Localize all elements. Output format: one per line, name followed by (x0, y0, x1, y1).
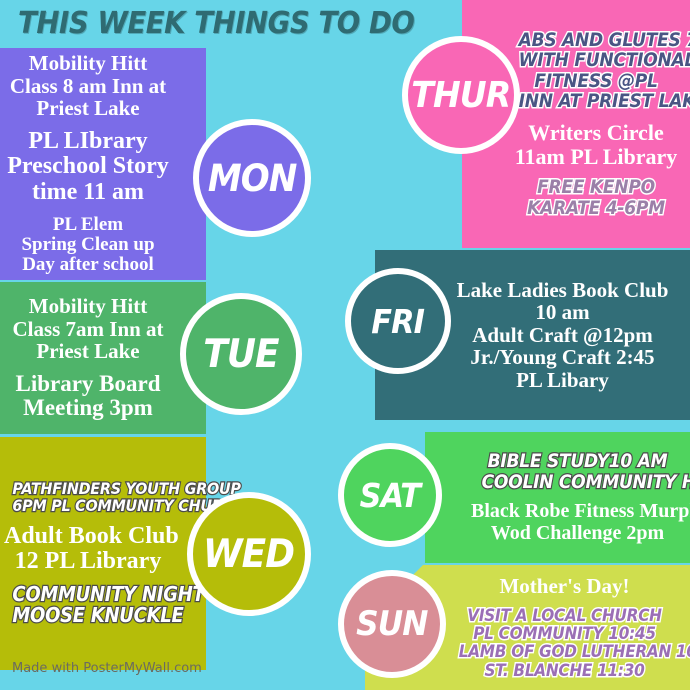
tuesday-event-group-1: Mobility Hitt Class 7am Inn at Priest La… (4, 295, 172, 362)
event-line: Mobility Hitt (4, 295, 172, 317)
event-line: 10 am (445, 301, 680, 323)
day-badge-label: SAT (360, 476, 420, 515)
event-line: 12 PL Library (4, 549, 172, 575)
page-title: This Week Things To Do (18, 6, 404, 41)
event-line: Coolin Community Hall (482, 472, 674, 493)
event-line: Writers Circle (510, 121, 682, 145)
day-block-monday: Mobility Hitt Class 8 am Inn at Priest L… (0, 48, 206, 280)
event-line: with Functional (519, 50, 674, 71)
event-line: PL Community 10:45 (459, 625, 671, 643)
friday-event-group-1: Lake Ladies Book Club 10 am Adult Craft … (445, 279, 680, 391)
event-line: Lake Ladies Book Club (445, 279, 680, 301)
day-badge-sunday: SUN (338, 570, 446, 678)
event-line: Lamb of God Lutheran 10:30 (459, 643, 671, 661)
event-line: Class 7am Inn at (4, 318, 172, 340)
day-badge-label: WED (203, 532, 294, 577)
event-line: Moose Knuckle (12, 605, 163, 627)
day-badge-wednesday: WED (187, 492, 311, 616)
day-badge-label: THUR (411, 75, 510, 116)
event-line: Abs and Glutes 7am (519, 30, 674, 51)
monday-event-group-3: PL Elem Spring Clean up Day after school (4, 215, 172, 276)
day-block-wednesday: Pathfinders Youth Group 6pm PL Community… (0, 437, 206, 670)
event-line: Preschool Story (4, 154, 172, 180)
event-line: 6pm PL Community Church (12, 497, 163, 514)
wednesday-event-group-2: Adult Book Club 12 PL Library (4, 524, 172, 575)
watermark-text: Made with PosterMyWall.com (12, 661, 202, 676)
event-line: Inn at Priest Lake (519, 91, 674, 112)
saturday-event-group-1: Bible Study10 AM Coolin Community Hall (471, 451, 684, 492)
event-line: Karate 4-6pm (519, 198, 674, 219)
event-line: Wod Challenge 2pm (471, 523, 684, 544)
wednesday-event-group-3: Community Night Moose Knuckle (4, 584, 172, 627)
day-badge-label: TUE (203, 332, 278, 377)
event-line: Pathfinders Youth Group (12, 480, 163, 497)
event-line: PL Libary (445, 369, 680, 391)
day-block-saturday: Bible Study10 AM Coolin Community Hall B… (425, 432, 690, 563)
event-line: Visit a Local Church (459, 607, 671, 625)
event-line: Day after school (4, 255, 172, 275)
day-badge-label: MON (208, 157, 297, 200)
day-badge-friday: FRI (345, 268, 451, 374)
wednesday-event-group-1: Pathfinders Youth Group 6pm PL Community… (4, 480, 172, 515)
event-line: 11am PL Library (510, 145, 682, 169)
event-line: Mother's Day! (447, 575, 682, 597)
event-line: Fitness @PL (519, 71, 674, 92)
event-line: Priest Lake (4, 340, 172, 362)
event-line: Adult Craft @12pm (445, 324, 680, 346)
event-line: Library Board (4, 372, 172, 397)
saturday-event-group-2: Black Robe Fitness Murph Wod Challenge 2… (471, 501, 684, 544)
monday-event-group-1: Mobility Hitt Class 8 am Inn at Priest L… (4, 52, 172, 119)
tuesday-event-group-2: Library Board Meeting 3pm (4, 372, 172, 421)
event-line: Jr./Young Craft 2:45 (445, 346, 680, 368)
event-line: Adult Book Club (4, 524, 172, 550)
thursday-event-group-1: Abs and Glutes 7am with Functional Fitne… (510, 30, 682, 112)
event-line: Class 8 am Inn at (4, 75, 172, 97)
monday-event-group-2: PL LIbrary Preschool Story time 11 am (4, 129, 172, 206)
day-badge-label: FRI (372, 302, 425, 341)
sunday-event-group-1: Mother's Day! (447, 575, 682, 597)
day-block-tuesday: Mobility Hitt Class 7am Inn at Priest La… (0, 282, 206, 434)
thursday-event-group-2: Writers Circle 11am PL Library (510, 121, 682, 168)
event-line: time 11 am (4, 180, 172, 206)
event-line: Black Robe Fitness Murph (471, 501, 684, 522)
poster-canvas: This Week Things To Do Mobility Hitt Cla… (0, 0, 690, 690)
event-line: Spring Clean up (4, 235, 172, 255)
event-line: Free Kenpo (519, 177, 674, 198)
event-line: Community Night (12, 584, 163, 606)
event-line: Bible Study10 AM (482, 451, 674, 472)
sunday-event-group-2: Visit a Local Church PL Community 10:45 … (447, 607, 682, 680)
event-line: PL LIbrary (4, 129, 172, 155)
day-badge-thursday: THUR (402, 36, 520, 154)
event-line: PL Elem (4, 215, 172, 235)
day-badge-tuesday: TUE (180, 293, 302, 415)
day-badge-saturday: SAT (338, 443, 442, 547)
event-line: Priest Lake (4, 97, 172, 119)
day-badge-monday: MON (193, 119, 311, 237)
event-line: Meeting 3pm (4, 396, 172, 421)
thursday-event-group-3: Free Kenpo Karate 4-6pm (510, 177, 682, 218)
event-line: Mobility Hitt (4, 52, 172, 74)
event-line: St. Blanche 11:30 (459, 662, 671, 680)
day-badge-label: SUN (356, 604, 427, 644)
